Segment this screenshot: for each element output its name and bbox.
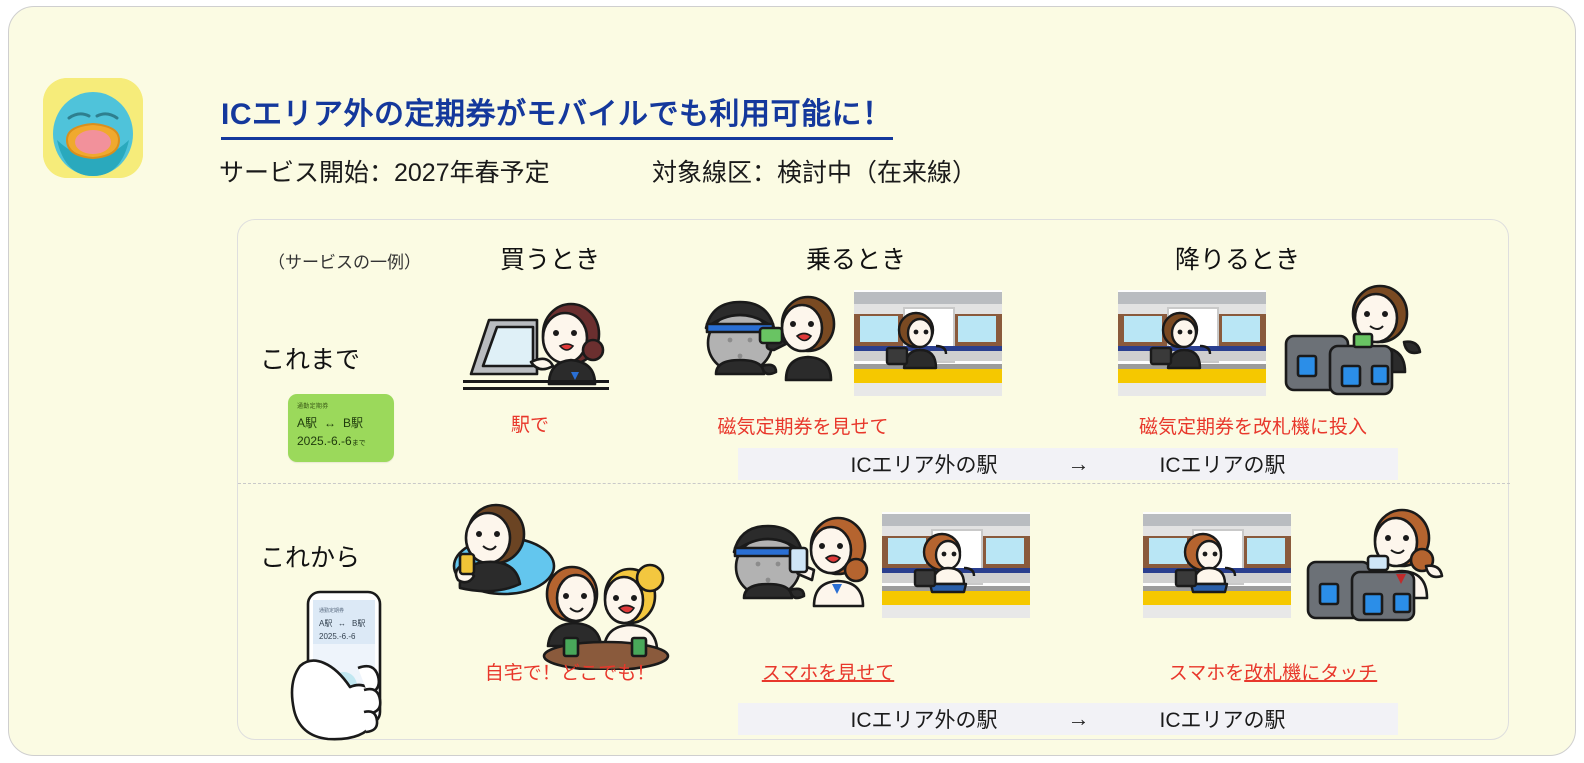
main-card: ICエリア外の定期券がモバイルでも利用可能に！ サービス開始：2027年春予定 … bbox=[8, 6, 1576, 756]
strip-after-left: ICエリア外の駅 bbox=[851, 704, 998, 734]
infographic-root: ICエリア外の定期券がモバイルでも利用可能に！ サービス開始：2027年春予定 … bbox=[0, 0, 1584, 763]
svg-text:B駅: B駅 bbox=[352, 619, 365, 628]
caption-after-exit-part1: スマホを bbox=[1169, 663, 1244, 684]
two-people-at-table-illustration bbox=[526, 550, 686, 670]
magnetic-pass-card: 通勤定期券 A駅 ↔ B駅 2025.-6.-6まで bbox=[288, 394, 394, 462]
strip-before-arrow-icon: → bbox=[1068, 451, 1090, 477]
caption-after-exit-part2: 改札機にタッチ bbox=[1244, 663, 1377, 684]
pass-card-date: 2025.-6.-6まで bbox=[297, 434, 386, 448]
caption-after-ride: スマホを見せて bbox=[738, 658, 918, 685]
pass-card-date-value: 2025.-6.-6 bbox=[297, 434, 352, 448]
pass-card-arrow-icon: ↔ bbox=[324, 416, 336, 430]
column-header-exit: 降りるとき bbox=[1175, 240, 1300, 276]
strip-before-right: ICエリアの駅 bbox=[1160, 449, 1286, 479]
passenger-touching-phone-at-gate-illustration bbox=[1298, 508, 1458, 624]
caption-before-exit: 磁気定期券を改札機に投入 bbox=[1118, 412, 1388, 439]
train-platform-boarding-after-illustration bbox=[882, 512, 1030, 618]
caption-before-ride: 磁気定期券を見せて bbox=[693, 412, 913, 439]
caption-after-exit: スマホを改札機にタッチ bbox=[1148, 658, 1398, 685]
strip-after-arrow-icon: → bbox=[1068, 706, 1090, 732]
attendant-and-passenger-showing-pass-illustration bbox=[700, 288, 850, 398]
hand-holding-smartphone-illustration: 通勤定期券 A駅 ↔ B駅 2025.-6.-6 bbox=[282, 586, 402, 741]
target-lines-text: 対象線区：検討中（在来線） bbox=[652, 153, 977, 189]
svg-text:2025.-6.-6: 2025.-6.-6 bbox=[319, 632, 356, 641]
column-header-buy: 買うとき bbox=[500, 240, 600, 276]
panel-note: （サービスの一例） bbox=[268, 248, 421, 273]
caption-before-buy: 駅で bbox=[470, 410, 590, 437]
pass-card-route: A駅 ↔ B駅 bbox=[297, 414, 386, 431]
column-header-ride: 乗るとき bbox=[806, 240, 906, 276]
service-start-text: サービス開始：2027年春予定 bbox=[219, 153, 550, 189]
strip-before-left: ICエリア外の駅 bbox=[851, 449, 998, 479]
attendant-and-passenger-showing-phone-illustration bbox=[728, 510, 878, 622]
station-strip-after: ICエリア外の駅 → ICエリアの駅 bbox=[738, 703, 1398, 735]
page-title: ICエリア外の定期券がモバイルでも利用可能に！ bbox=[221, 89, 893, 140]
svg-text:↔: ↔ bbox=[338, 619, 346, 628]
pass-card-date-suffix: まで bbox=[352, 440, 366, 447]
suica-penguin-logo-icon bbox=[43, 78, 143, 178]
row-label-before: これまで bbox=[260, 340, 360, 376]
caption-after-buy: 自宅で！どこでも！ bbox=[460, 658, 680, 685]
pass-card-to: B駅 bbox=[343, 414, 363, 431]
train-platform-alighting-illustration bbox=[1118, 290, 1266, 396]
passenger-at-ticket-gate-illustration bbox=[1276, 284, 1436, 396]
train-platform-alighting-after-illustration bbox=[1143, 512, 1291, 618]
pass-card-from: A駅 bbox=[297, 414, 317, 431]
row-label-after: これから bbox=[260, 538, 360, 574]
svg-text:通勤定期券: 通勤定期券 bbox=[319, 607, 344, 614]
station-strip-before: ICエリア外の駅 → ICエリアの駅 bbox=[738, 448, 1398, 480]
strip-after-right: ICエリアの駅 bbox=[1160, 704, 1286, 734]
svg-text:A駅: A駅 bbox=[319, 619, 332, 628]
pass-card-type-label: 通勤定期券 bbox=[297, 401, 386, 410]
train-platform-boarding-illustration bbox=[854, 290, 1002, 396]
row-divider bbox=[238, 483, 1510, 484]
staff-at-ticket-counter-illustration bbox=[453, 292, 613, 392]
service-example-panel: （サービスの一例） 買うとき 乗るとき 降りるとき これまで 通勤定期券 A駅 … bbox=[237, 219, 1509, 740]
